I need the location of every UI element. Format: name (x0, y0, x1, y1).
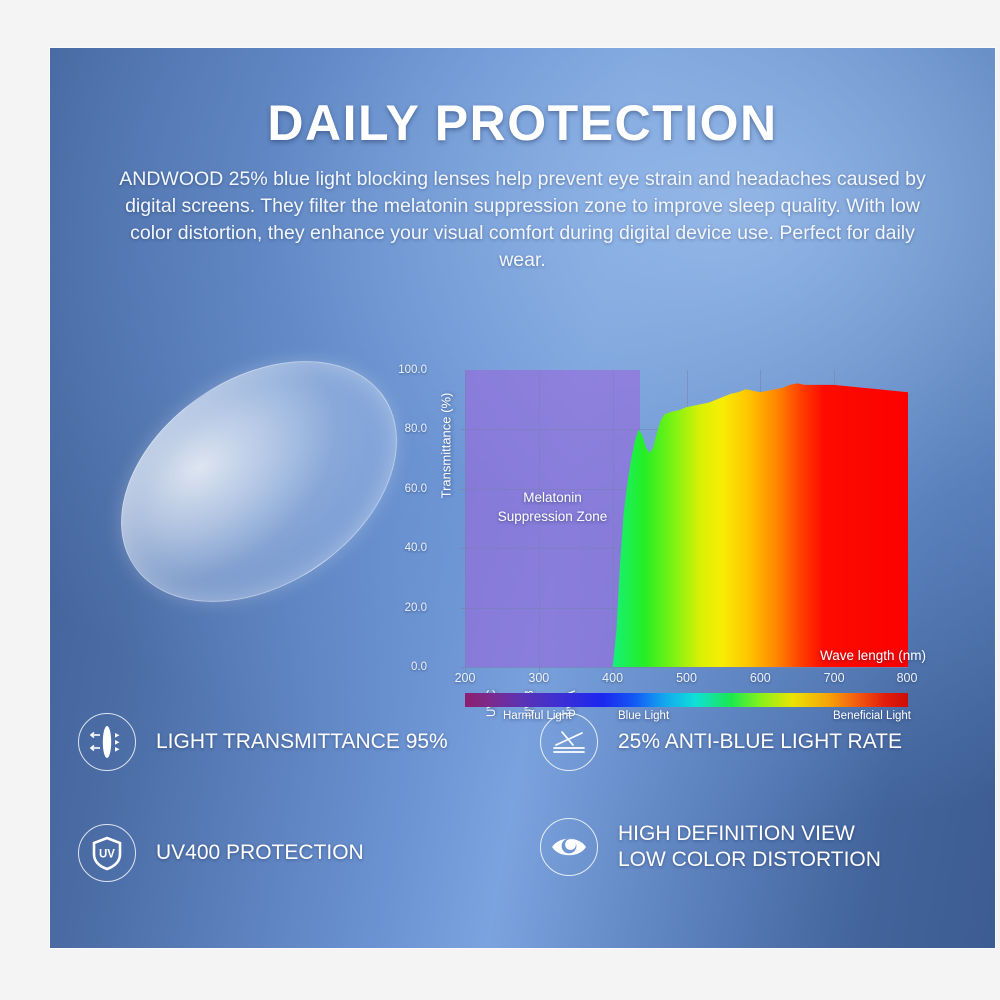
feature-uv400-protection: UV UV400 PROTECTION (78, 824, 364, 882)
feature-light-transmittance: LIGHT TRANSMITTANCE 95% (78, 713, 448, 771)
y-tick-0: 0.0 (381, 661, 427, 673)
svg-text:UV: UV (99, 849, 115, 861)
y-tick-mark-20 (461, 608, 466, 609)
feature-label: 25% ANTI-BLUE LIGHT RATE (618, 729, 902, 755)
page-title: DAILY PROTECTION (50, 94, 995, 152)
y-tick-100: 100.0 (381, 364, 427, 376)
product-lens-image (98, 360, 428, 700)
x-tick-200: 200 (455, 671, 476, 685)
melatonin-zone-label-line2: Suppression Zone (465, 507, 640, 526)
y-tick-20: 20.0 (381, 602, 427, 614)
x-tick-500: 500 (676, 671, 697, 685)
x-tick-600: 600 (750, 671, 771, 685)
melatonin-zone-label-line1: Melatonin (465, 488, 640, 507)
y-axis-label: Transmittance (%) (439, 366, 454, 526)
x-tick-400: 400 (602, 671, 623, 685)
x-axis-label: Wave length (nm) (820, 648, 926, 663)
y-tick-80: 80.0 (381, 423, 427, 435)
feature-label-line1: HIGH DEFINITION VIEW (618, 821, 881, 847)
lens-transmittance-icon (78, 713, 136, 771)
melatonin-zone-label: Melatonin Suppression Zone (465, 488, 640, 526)
poster-root: DAILY PROTECTION ANDWOOD 25% blue light … (0, 0, 1000, 1000)
feature-label-line2: LOW COLOR DISTORTION (618, 847, 881, 873)
uv-shield-icon: UV (78, 824, 136, 882)
y-tick-40: 40.0 (381, 542, 427, 554)
y-tick-60: 60.0 (381, 483, 427, 495)
spectrum-legend-bar (465, 693, 908, 707)
feature-label: HIGH DEFINITION VIEW LOW COLOR DISTORTIO… (618, 821, 881, 873)
description-paragraph: ANDWOOD 25% blue light blocking lenses h… (110, 166, 935, 274)
x-tick-700: 700 (824, 671, 845, 685)
feature-label: LIGHT TRANSMITTANCE 95% (156, 729, 448, 755)
y-tick-mark-40 (461, 548, 466, 549)
x-tick-mark-300 (539, 667, 540, 672)
x-tick-800: 800 (897, 671, 918, 685)
x-tick-mark-400 (613, 667, 614, 672)
feature-label: UV400 PROTECTION (156, 840, 364, 866)
x-tick-300: 300 (528, 671, 549, 685)
x-tick-mark-200 (465, 667, 466, 672)
eye-icon (540, 818, 598, 876)
feature-hd-view: HIGH DEFINITION VIEW LOW COLOR DISTORTIO… (540, 818, 881, 876)
x-axis-line (465, 667, 908, 668)
feature-anti-blue-rate: 25% ANTI-BLUE LIGHT RATE (540, 713, 902, 771)
main-panel: DAILY PROTECTION ANDWOOD 25% blue light … (50, 48, 995, 948)
transmittance-chart: 100.0 80.0 60.0 40.0 20.0 0.0 200 300 40… (428, 360, 928, 735)
blue-light-deflection-icon (540, 713, 598, 771)
y-tick-mark-80 (461, 429, 466, 430)
